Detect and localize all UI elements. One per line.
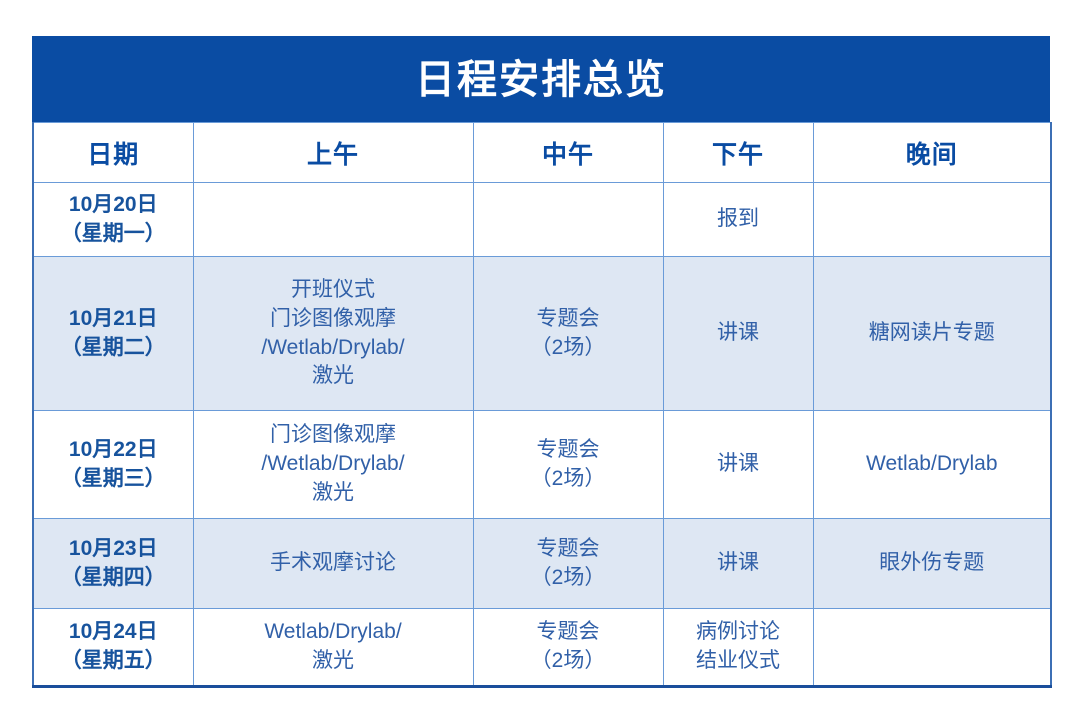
cell-afternoon: 病例讨论 结业仪式: [663, 609, 813, 687]
column-header-afternoon: 下午: [663, 123, 813, 183]
cell-evening: 眼外伤专题: [813, 519, 1051, 609]
cell-date: 10月20日 （星期一）: [33, 183, 193, 257]
cell-afternoon: 报到: [663, 183, 813, 257]
cell-morning: Wetlab/Drylab/ 激光: [193, 609, 473, 687]
cell-date: 10月24日 （星期五）: [33, 609, 193, 687]
cell-morning: 开班仪式 门诊图像观摩 /Wetlab/Drylab/ 激光: [193, 257, 473, 411]
schedule-table: 日期 上午 中午 下午 晚间 10月20日 （星期一） 报到 10月21日 （星…: [32, 122, 1052, 688]
cell-noon: 专题会 （2场）: [473, 257, 663, 411]
table-row: 10月20日 （星期一） 报到: [33, 183, 1051, 257]
cell-noon: [473, 183, 663, 257]
cell-noon: 专题会 （2场）: [473, 609, 663, 687]
cell-evening: [813, 609, 1051, 687]
cell-noon: 专题会 （2场）: [473, 519, 663, 609]
cell-afternoon: 讲课: [663, 519, 813, 609]
schedule-table-container: 日程安排总览 日期 上午 中午 下午 晚间: [32, 36, 1050, 688]
cell-evening: [813, 183, 1051, 257]
schedule-title-banner: 日程安排总览: [32, 36, 1050, 122]
table-body: 10月20日 （星期一） 报到 10月21日 （星期二） 开班仪式 门诊图像观摩…: [33, 183, 1051, 687]
column-header-morning: 上午: [193, 123, 473, 183]
header-row: 日期 上午 中午 下午 晚间: [33, 123, 1051, 183]
cell-evening: Wetlab/Drylab: [813, 411, 1051, 519]
cell-date: 10月22日 （星期三）: [33, 411, 193, 519]
cell-morning: 手术观摩讨论: [193, 519, 473, 609]
column-header-noon: 中午: [473, 123, 663, 183]
table-row: 10月23日 （星期四） 手术观摩讨论 专题会 （2场） 讲课 眼外伤专题: [33, 519, 1051, 609]
table-header: 日期 上午 中午 下午 晚间: [33, 123, 1051, 183]
page-title: 日程安排总览: [415, 60, 667, 100]
cell-afternoon: 讲课: [663, 411, 813, 519]
table-row: 10月21日 （星期二） 开班仪式 门诊图像观摩 /Wetlab/Drylab/…: [33, 257, 1051, 411]
cell-noon: 专题会 （2场）: [473, 411, 663, 519]
cell-morning: [193, 183, 473, 257]
column-header-evening: 晚间: [813, 123, 1051, 183]
table-row: 10月24日 （星期五） Wetlab/Drylab/ 激光 专题会 （2场） …: [33, 609, 1051, 687]
table-row: 10月22日 （星期三） 门诊图像观摩 /Wetlab/Drylab/ 激光 专…: [33, 411, 1051, 519]
column-header-date: 日期: [33, 123, 193, 183]
cell-morning: 门诊图像观摩 /Wetlab/Drylab/ 激光: [193, 411, 473, 519]
cell-afternoon: 讲课: [663, 257, 813, 411]
schedule-page: 日程安排总览 日期 上午 中午 下午 晚间: [0, 0, 1080, 716]
cell-date: 10月23日 （星期四）: [33, 519, 193, 609]
cell-evening: 糖网读片专题: [813, 257, 1051, 411]
cell-date: 10月21日 （星期二）: [33, 257, 193, 411]
